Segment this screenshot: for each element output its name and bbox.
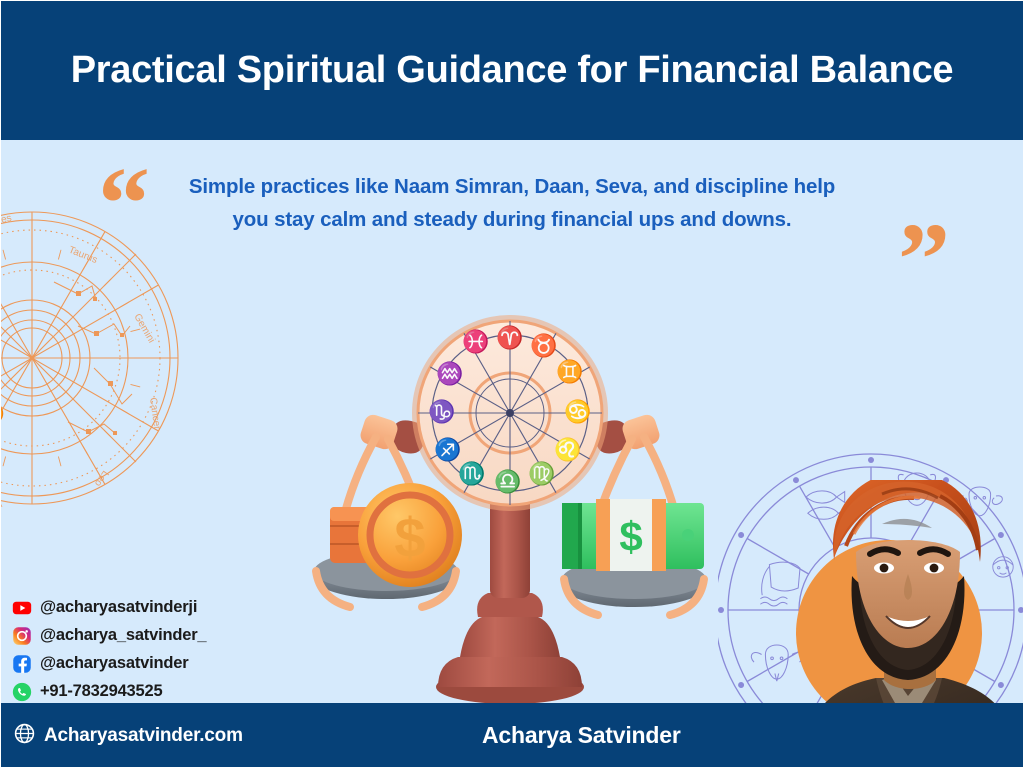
svg-text:♈: ♈ (496, 325, 523, 350)
svg-text:♓: ♓ (462, 329, 489, 354)
website-link[interactable]: Acharyasatvinder.com (14, 723, 243, 749)
whatsapp-icon[interactable] (12, 682, 32, 702)
svg-text:Leo: Leo (92, 468, 111, 488)
quote-close-mark: ” (898, 208, 950, 312)
svg-text:♊: ♊ (0, 402, 5, 425)
social-row-youtube[interactable]: @acharyasatvinderji (12, 595, 206, 620)
svg-text:Gemini: Gemini (131, 312, 156, 345)
astrology-natal-chart-watermark: ♈ ♉ ♊ ♋ ♌ Aries Taurus Gemini Cancer Leo… (0, 208, 182, 508)
social-handle-youtube: @acharyasatvinderji (40, 598, 197, 617)
svg-text:$: $ (619, 513, 642, 560)
facebook-icon[interactable] (12, 654, 32, 674)
poster-canvas: ♈ ♉ ♊ ♋ ♌ Aries Taurus Gemini Cancer Leo… (0, 0, 1024, 768)
svg-text:Cancer: Cancer (147, 397, 162, 431)
poster-header: Practical Spiritual Guidance for Financi… (0, 0, 1024, 140)
social-handle-instagram: @acharya_satvinder_ (40, 626, 206, 645)
svg-text:♊: ♊ (556, 359, 583, 384)
svg-text:♑: ♑ (428, 399, 455, 424)
website-label: Acharyasatvinder.com (44, 725, 243, 747)
social-handle-whatsapp: +91-7832943525 (40, 682, 162, 701)
svg-text:♌: ♌ (554, 437, 581, 462)
quote-open-mark: “ (98, 152, 150, 256)
svg-text:♏: ♏ (458, 461, 485, 486)
balance-scale-illustration: $ $ (300, 295, 720, 703)
social-handle-facebook: @acharyasatvinder (40, 654, 188, 673)
poster-footer: Acharyasatvinder.com Acharya Satvinder (0, 703, 1024, 768)
svg-text:♋: ♋ (564, 399, 591, 424)
svg-text:♎: ♎ (494, 469, 521, 494)
social-row-facebook[interactable]: @acharyasatvinder (12, 651, 206, 676)
svg-text:Virgo: Virgo (0, 497, 3, 508)
svg-text:♒: ♒ (436, 361, 463, 386)
page-title: Practical Spiritual Guidance for Financi… (71, 49, 954, 92)
svg-text:♉: ♉ (530, 333, 557, 358)
social-row-instagram[interactable]: @acharya_satvinder_ (12, 623, 206, 648)
youtube-icon[interactable] (12, 598, 32, 618)
svg-text:♍: ♍ (528, 461, 555, 486)
presenter-name: Acharya Satvinder (482, 722, 681, 749)
social-handles-list: @acharyasatvinderji (12, 595, 206, 703)
svg-text:♐: ♐ (434, 437, 461, 462)
social-row-whatsapp[interactable]: +91-7832943525 (12, 679, 206, 703)
svg-text:Aries: Aries (0, 213, 13, 229)
quote-text: Simple practices like Naam Simran, Daan,… (180, 170, 844, 236)
instagram-icon[interactable] (12, 626, 32, 646)
svg-text:$: $ (394, 506, 425, 569)
svg-text:Taurus: Taurus (67, 245, 99, 266)
globe-icon (14, 723, 35, 749)
